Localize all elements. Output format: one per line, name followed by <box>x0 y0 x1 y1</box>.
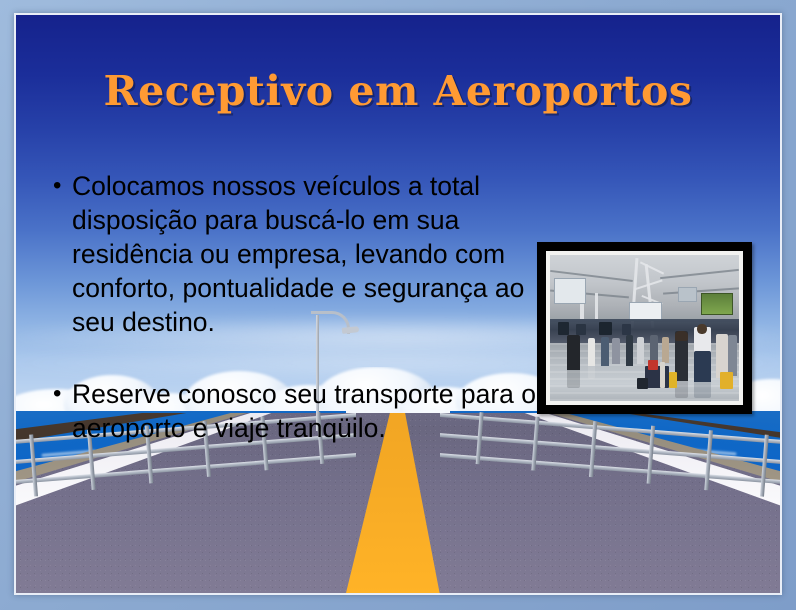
bullet-text: Reserve conosco seu transporte para o ae… <box>72 377 546 445</box>
bullet-marker: • <box>46 169 72 203</box>
slide-background-photo: Receptivo em Aeroportos • Colocamos noss… <box>16 15 780 593</box>
bullet-marker: • <box>46 377 72 411</box>
presentation-slide: Receptivo em Aeroportos • Colocamos noss… <box>14 13 782 595</box>
bullet-text: Colocamos nossos veículos a total dispos… <box>72 169 546 339</box>
airport-terminal-photo <box>550 255 739 401</box>
bullet-item-1: • Colocamos nossos veículos a total disp… <box>46 169 546 339</box>
bullet-item-2: • Reserve conosco seu transporte para o … <box>46 377 546 445</box>
slide-outer-frame: Receptivo em Aeroportos • Colocamos noss… <box>0 0 796 610</box>
slide-body-text: • Colocamos nossos veículos a total disp… <box>46 169 546 445</box>
slide-title: Receptivo em Aeroportos <box>16 67 780 115</box>
airport-photo-mat <box>546 251 743 405</box>
airport-photo-frame <box>537 242 752 414</box>
bullet-spacer <box>46 339 546 377</box>
